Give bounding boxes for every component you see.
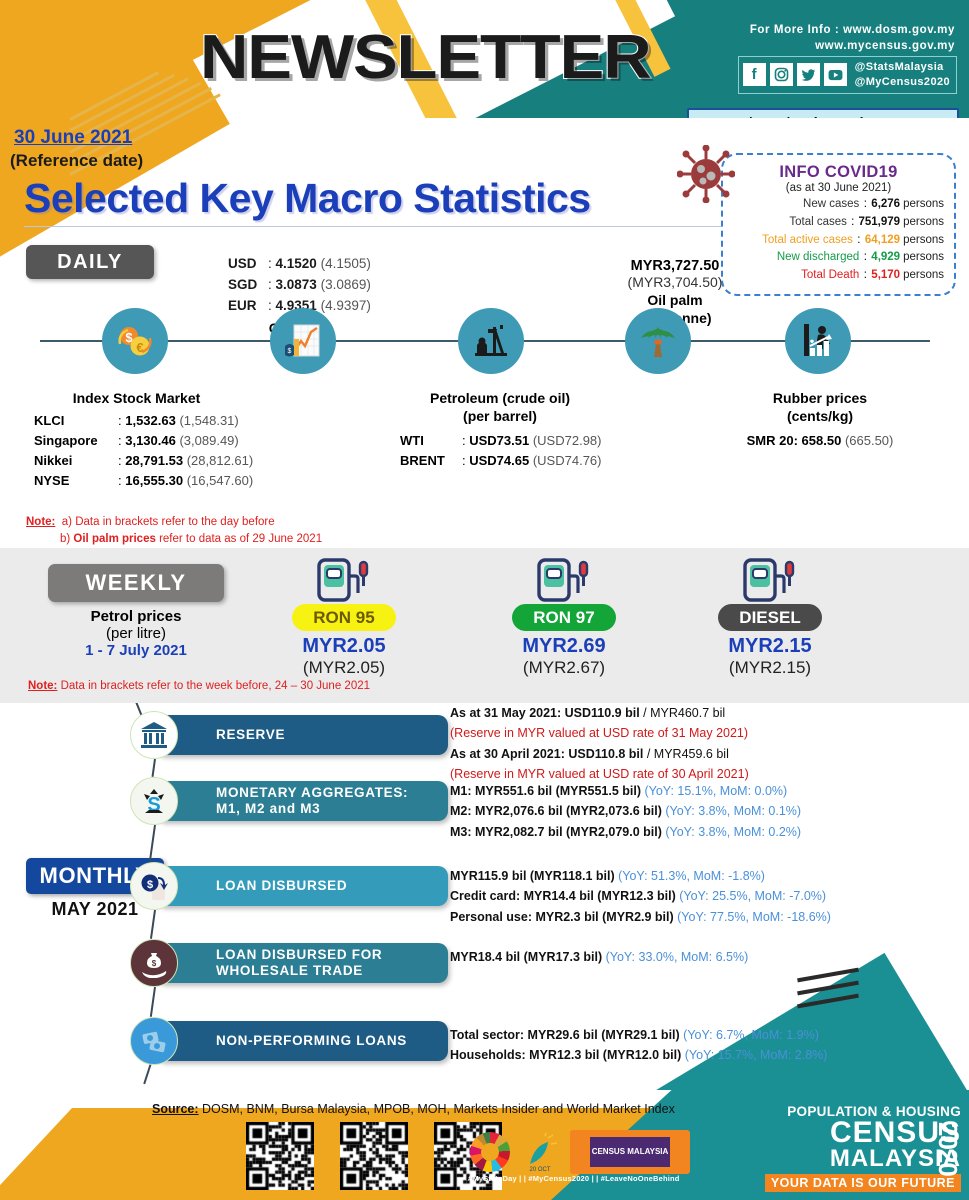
- fuel-price: MYR2.15: [690, 635, 850, 658]
- covid-info-box: INFO COVID19 (as at 30 June 2021) New ca…: [721, 153, 956, 296]
- weekly-note-word: Note:: [28, 680, 57, 692]
- loan-money-icon: $: [130, 862, 178, 910]
- census-mini-label: CENSUS MALAYSIA: [590, 1137, 670, 1167]
- petroleum-previous: (USD72.98): [533, 433, 602, 448]
- twitter-icon[interactable]: [797, 63, 820, 86]
- svg-text:$: $: [288, 348, 292, 355]
- covid-stat-value: 4,929: [871, 249, 900, 267]
- census-tagline: YOUR DATA IS OUR FUTURE: [765, 1174, 961, 1192]
- index-label: Singapore: [34, 431, 118, 451]
- fuel-type-pill: RON 97: [512, 604, 616, 631]
- fuel-previous-price: (MYR2.05): [264, 658, 424, 678]
- footer-hashtags: #MyStatsDay | | #MyCensus2020 | | #Leave…: [468, 1174, 680, 1183]
- petrol-caption-a: Petrol prices: [48, 608, 224, 625]
- mycensus-url[interactable]: www.mycensus.gov.my: [750, 38, 955, 54]
- census-year: 2020: [935, 1122, 961, 1176]
- monthly-indicator-bar[interactable]: LOAN DISBURSED FORWHOLESALE TRADE: [158, 943, 448, 983]
- petroleum-pump-icon: [458, 308, 524, 374]
- rubber-value-row: SMR 20: 658.50 (665.50): [720, 431, 920, 451]
- fuel-type-pill: DIESEL: [718, 604, 822, 631]
- fuel-card: RON 97MYR2.69(MYR2.67): [484, 556, 644, 678]
- weekly-note: Note: Data in brackets refer to the week…: [28, 680, 370, 692]
- sdg-wheel-icon: [470, 1132, 510, 1172]
- weekly-tag: WEEKLY: [48, 564, 224, 602]
- covid-stat-value: 751,979: [859, 214, 901, 232]
- monthly-indicator-bar[interactable]: RESERVE: [158, 715, 448, 755]
- fuel-card: DIESELMYR2.15(MYR2.15): [690, 556, 850, 678]
- monthly-indicator-values: MYR18.4 bil (MYR17.3 bil) (YoY: 33.0%, M…: [450, 947, 748, 967]
- monthly-indicator-label: RESERVE: [216, 727, 285, 743]
- monthly-value-line: MYR115.9 bil (MYR118.1 bil) (YoY: 51.3%,…: [450, 866, 831, 886]
- covid-stat-label: Total Death: [741, 267, 859, 285]
- petrol-week-range: 1 - 7 July 2021: [48, 642, 224, 659]
- currency-label: EUR: [228, 296, 268, 317]
- covid-stat-unit: persons: [903, 214, 944, 232]
- svg-text:$: $: [152, 959, 157, 968]
- index-label: NYSE: [34, 471, 118, 491]
- monthly-value-line: Personal use: MYR2.3 bil (MYR2.9 bil) (Y…: [450, 907, 831, 927]
- monthly-indicator-bar[interactable]: NON-PERFORMING LOANS: [158, 1021, 448, 1061]
- daily-section: 30 June 2021 (Reference date) Selected K…: [0, 118, 969, 548]
- money-arrows-icon: S: [130, 777, 178, 825]
- currency-row: USD: 4.1520 (4.1505): [228, 254, 371, 275]
- handle-statsmalaysia: @StatsMalaysia: [855, 60, 950, 75]
- social-links-box: f @StatsMalaysia @MyCensus2020: [738, 56, 957, 94]
- broken-money-icon: [130, 1017, 178, 1065]
- daily-note-b-bold: Oil palm prices: [73, 533, 155, 545]
- monthly-section: MONTHLY MAY 2021 RESERVEAs at 31 May 202…: [0, 703, 969, 1090]
- petroleum-label: BRENT: [400, 451, 462, 471]
- youtube-icon[interactable]: [824, 63, 847, 86]
- monthly-value-line: As at 30 April 2021: USD110.8 bil / MYR4…: [450, 744, 749, 764]
- bank-icon: [130, 711, 178, 759]
- rubber-previous: (665.50): [845, 433, 893, 448]
- covid-stat-row: Total active cases:64,129persons: [733, 232, 944, 250]
- petroleum-previous: (USD74.76): [533, 453, 602, 468]
- currency-label: SGD: [228, 275, 268, 296]
- monthly-value-line: M1: MYR551.6 bil (MYR551.5 bil) (YoY: 15…: [450, 781, 801, 801]
- petroleum-caption-2: (per barrel): [463, 408, 537, 424]
- fuel-previous-price: (MYR2.15): [690, 658, 850, 678]
- monthly-value-line: Credit card: MYR14.4 bil (MYR12.3 bil) (…: [450, 886, 831, 906]
- facebook-icon[interactable]: f: [743, 63, 766, 86]
- covid-stat-value: 5,170: [871, 267, 900, 285]
- index-previous: (3,089.49): [179, 433, 238, 448]
- currency-previous: (4.1505): [321, 256, 371, 271]
- monthly-connector: [152, 759, 156, 777]
- index-previous: (28,812.61): [187, 453, 254, 468]
- page-title: Selected Key Macro Statistics: [24, 175, 591, 222]
- source-line: Source: DOSM, BNM, Bursa Malaysia, MPOB,…: [152, 1102, 675, 1116]
- newsletter-wordmark: NEWSLETTER: [200, 22, 650, 93]
- index-stock-row: NYSE: 16,555.30 (16,547.60): [34, 471, 239, 491]
- oil-palm-tree-icon: [625, 308, 691, 374]
- weekly-note-text: Data in brackets refer to the week befor…: [57, 680, 370, 692]
- covid-stat-row: Total Death:5,170persons: [733, 267, 944, 285]
- covid-stat-label: New cases: [741, 196, 859, 214]
- mystatsday-icon: 20 OCT: [520, 1132, 560, 1172]
- instagram-icon[interactable]: [770, 63, 793, 86]
- monthly-indicator-values: Total sector: MYR29.6 bil (MYR29.1 bil) …: [450, 1025, 827, 1066]
- rubber-value: 658.50: [802, 433, 842, 448]
- partner-logo-row: 20 OCT CENSUS MALAYSIA: [470, 1130, 690, 1174]
- currency-row: SGD: 3.0873 (3.0869): [228, 275, 371, 296]
- fuel-type-pill: RON 95: [292, 604, 396, 631]
- covid-stat-unit: persons: [903, 249, 944, 267]
- fuel-card: RON 95MYR2.05(MYR2.05): [264, 556, 424, 678]
- monthly-value-line: Households: MYR12.3 bil (MYR12.0 bil) (Y…: [450, 1045, 827, 1065]
- index-stock-row: Nikkei: 28,791.53 (28,812.61): [34, 451, 239, 471]
- monthly-value-line: M3: MYR2,082.7 bil (MYR2,079.0 bil) (YoY…: [450, 822, 801, 842]
- social-handles: @StatsMalaysia @MyCensus2020: [855, 60, 950, 90]
- index-stock-row: Singapore: 3,130.46 (3,089.49): [34, 431, 239, 451]
- money-bag-hand-icon: $: [130, 939, 178, 987]
- index-label: KLCI: [34, 411, 118, 431]
- rubber-caption-1: Rubber prices: [773, 390, 867, 406]
- covid-stat-unit: persons: [903, 232, 944, 250]
- monthly-connector: [150, 987, 156, 1017]
- index-stock-row: KLCI: 1,532.63 (1,548.31): [34, 411, 239, 431]
- petroleum-label: WTI: [400, 431, 462, 451]
- handle-mycensus: @MyCensus2020: [855, 75, 950, 90]
- fuel-price: MYR2.05: [264, 635, 424, 658]
- fuel-price: MYR2.69: [484, 635, 644, 658]
- rubber-caption-2: (cents/kg): [787, 408, 853, 424]
- currency-previous: (4.9397): [321, 298, 371, 313]
- monthly-connector: [149, 825, 156, 862]
- monthly-value-line: MYR18.4 bil (MYR17.3 bil) (YoY: 33.0%, M…: [450, 947, 748, 967]
- petroleum-caption-1: Petroleum (crude oil): [430, 390, 570, 406]
- index-value: 3,130.46: [125, 433, 176, 448]
- currency-value: 3.0873: [276, 277, 317, 292]
- daily-note-b-rest: refer to data as of 29 June 2021: [156, 533, 322, 545]
- currency-value: 4.1520: [276, 256, 317, 271]
- wedge-line-decoration: [797, 973, 859, 1012]
- census-mini-logo: CENSUS MALAYSIA: [570, 1130, 690, 1174]
- rubber-block: Rubber prices (cents/kg) SMR 20: 658.50 …: [720, 390, 920, 451]
- census-line-2: CENSUS: [743, 1119, 961, 1147]
- weekly-section: WEEKLY Petrol prices (per litre) 1 - 7 J…: [0, 548, 969, 703]
- covid-stat-row: New cases:6,276persons: [733, 196, 944, 214]
- qr-facebook-icon[interactable]: [340, 1122, 408, 1190]
- rubber-label: SMR 20:: [747, 433, 798, 448]
- petroleum-row: BRENT: USD74.65 (USD74.76): [400, 451, 600, 471]
- monthly-indicator-label: MONETARY AGGREGATES:M1, M2 and M3: [216, 785, 408, 817]
- monthly-indicator-bar[interactable]: LOAN DISBURSED: [158, 866, 448, 906]
- covid-stat-unit: persons: [903, 267, 944, 285]
- more-info-block: For More Info : www.dosm.gov.my www.myce…: [750, 22, 955, 54]
- daily-note-word: Note:: [26, 516, 55, 528]
- covid-stat-value: 6,276: [871, 196, 900, 214]
- fuel-previous-price: (MYR2.67): [484, 658, 644, 678]
- fuel-pump-icon: [533, 556, 595, 608]
- coronavirus-icon: [677, 145, 735, 203]
- monthly-indicator-values: M1: MYR551.6 bil (MYR551.5 bil) (YoY: 15…: [450, 781, 801, 842]
- index-stock-caption: Index Stock Market: [34, 390, 239, 408]
- petroleum-row: WTI: USD73.51 (USD72.98): [400, 431, 600, 451]
- daily-note: Note: a) Data in brackets refer to the d…: [26, 514, 322, 549]
- monthly-value-line: Total sector: MYR29.6 bil (MYR29.1 bil) …: [450, 1025, 827, 1045]
- covid-stat-label: Total cases: [733, 214, 847, 232]
- index-value: 16,555.30: [125, 473, 183, 488]
- fuel-pump-icon: [739, 556, 801, 608]
- source-word: Source:: [152, 1102, 199, 1116]
- monthly-value-line: (Reserve in MYR valued at USD rate of 31…: [450, 723, 749, 743]
- index-value: 1,532.63: [125, 413, 176, 428]
- petrol-caption-b: (per litre): [48, 625, 224, 642]
- census-line-3: MALAYSIA: [743, 1147, 961, 1171]
- currency-label: USD: [228, 254, 268, 275]
- index-value: 28,791.53: [125, 453, 183, 468]
- covid-stat-label: Total active cases: [735, 232, 853, 250]
- index-stock-block: Index Stock Market KLCI: 1,532.63 (1,548…: [34, 390, 239, 491]
- reference-date: 30 June 2021: [14, 127, 132, 149]
- petroleum-value: USD73.51: [469, 433, 529, 448]
- stock-market-chart-icon: $: [270, 308, 336, 374]
- petroleum-block: Petroleum (crude oil) (per barrel) WTI: …: [400, 390, 600, 471]
- monthly-value-line: As at 31 May 2021: USD110.9 bil / MYR460…: [450, 703, 749, 723]
- page-footer: Source: DOSM, BNM, Bursa Malaysia, MPOB,…: [0, 1090, 969, 1200]
- covid-stat-label: New discharged: [741, 249, 859, 267]
- svg-text:20 OCT: 20 OCT: [529, 1167, 550, 1172]
- daily-note-a: a) Data in brackets refer to the day bef…: [62, 516, 275, 528]
- petroleum-value: USD74.65: [469, 453, 529, 468]
- daily-tag: DAILY: [26, 245, 154, 279]
- monthly-indicator-label: LOAN DISBURSED FORWHOLESALE TRADE: [216, 947, 382, 979]
- reference-date-sublabel: (Reference date): [10, 151, 143, 171]
- census-2020-logo: POPULATION & HOUSING CENSUS MALAYSIA YOU…: [743, 1104, 961, 1192]
- qr-dosm-icon[interactable]: [246, 1122, 314, 1190]
- currency-previous: (3.0869): [321, 277, 371, 292]
- monthly-indicator-label: NON-PERFORMING LOANS: [216, 1033, 407, 1049]
- monthly-value-line: M2: MYR2,076.6 bil (MYR2,073.6 bil) (YoY…: [450, 801, 801, 821]
- petrol-caption-block: Petrol prices (per litre) 1 - 7 July 202…: [48, 608, 224, 659]
- svg-text:$: $: [147, 879, 153, 891]
- fuel-pump-icon: [313, 556, 375, 608]
- rubber-price-chart-icon: [785, 308, 851, 374]
- covid-stat-value: 64,129: [865, 232, 900, 250]
- covid-stat-row: Total cases:751,979persons: [733, 214, 944, 232]
- source-text: DOSM, BNM, Bursa Malaysia, MPOB, MOH, Ma…: [199, 1102, 675, 1116]
- monthly-indicator-bar[interactable]: MONETARY AGGREGATES:M1, M2 and M3: [158, 781, 448, 821]
- currency-exchange-icon: $ €: [102, 308, 168, 374]
- more-info-label: For More Info :: [750, 24, 840, 36]
- index-previous: (1,548.31): [179, 413, 238, 428]
- covid-subtitle: (as at 30 June 2021): [733, 182, 944, 194]
- monthly-indicator-values: As at 31 May 2021: USD110.9 bil / MYR460…: [450, 703, 749, 784]
- monthly-indicator-label: LOAN DISBURSED: [216, 878, 347, 894]
- teal-wedge-decoration: [524, 953, 969, 1090]
- covid-title: INFO COVID19: [733, 163, 944, 182]
- daily-note-b-prefix: b): [60, 533, 73, 545]
- covid-stat-row: New discharged:4,929persons: [733, 249, 944, 267]
- covid-stat-unit: persons: [903, 196, 944, 214]
- index-previous: (16,547.60): [187, 473, 254, 488]
- dosm-url[interactable]: www.dosm.gov.my: [843, 24, 955, 36]
- monthly-connector-bottom: [143, 1063, 152, 1085]
- index-label: Nikkei: [34, 451, 118, 471]
- oil-palm-caption-1: Oil palm: [647, 292, 702, 308]
- monthly-indicator-values: MYR115.9 bil (MYR118.1 bil) (YoY: 51.3%,…: [450, 866, 831, 927]
